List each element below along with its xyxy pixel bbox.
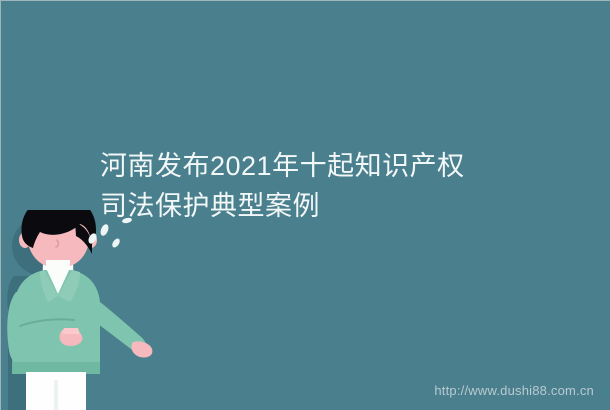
jacket (7, 260, 146, 374)
headline: 河南发布2021年十起知识产权 司法保护典型案例 (100, 146, 550, 226)
banner-top-edge (0, 0, 610, 1)
headline-line-1: 河南发布2021年十起知识产权 (100, 146, 550, 186)
source-watermark: http://www.dushi88.com.cn (434, 383, 594, 398)
pants (26, 372, 86, 410)
article-cover-banner: 河南发布2021年十起知识产权 司法保护典型案例 http://www.dush… (0, 0, 610, 410)
headline-line-2: 司法保护典型案例 (100, 186, 550, 226)
person-illustration (0, 210, 215, 410)
